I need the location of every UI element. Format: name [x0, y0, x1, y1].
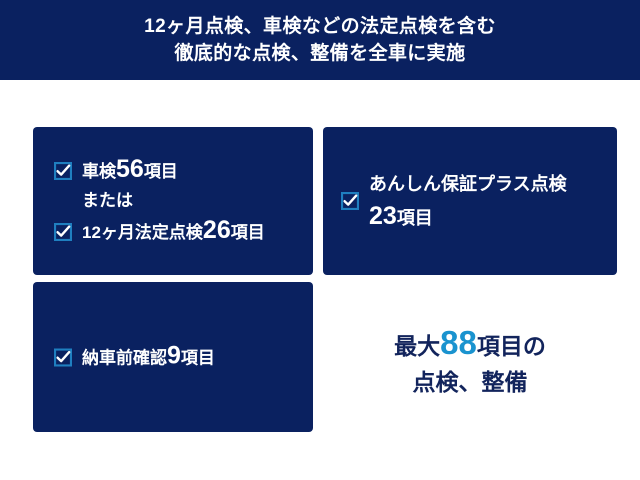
header-title-line-1: 12ヶ月点検、車検などの法定点検を含む: [144, 13, 496, 40]
panel-anshin-warranty-inspection: あんしん保証プラス点検 23項目: [323, 127, 617, 275]
panel-predelivery-check: 納車前確認9項目: [33, 282, 313, 432]
header-title-line-2: 徹底的な点検、整備を全車に実施: [174, 40, 465, 67]
summary-line-2: 点検、整備: [323, 364, 617, 400]
list-item: 車検56項目: [54, 156, 299, 185]
checkbox-checked-icon: [54, 348, 72, 366]
checkbox-checked-icon: [54, 162, 72, 180]
panel-shaken-inspection: 車検56項目 または 12ヶ月法定点検26項目: [33, 127, 313, 275]
list-item-label: または: [82, 188, 133, 214]
summary-total-items: 最大88項目の 点検、整備: [323, 325, 617, 400]
list-item-label-line-1: あんしん保証プラス点検: [369, 171, 567, 197]
list-item-label: 車検56項目: [82, 156, 178, 185]
checkbox-checked-icon: [341, 192, 359, 210]
list-item: 納車前確認9項目: [54, 343, 299, 372]
list-item-label-line-2: 23項目: [369, 203, 567, 231]
list-item-label: 納車前確認9項目: [82, 343, 215, 372]
checkbox-checked-icon: [54, 223, 72, 241]
summary-line-1: 最大88項目の: [323, 325, 617, 364]
summary-total-number: 88: [440, 324, 477, 361]
panel-anshin-content: あんしん保証プラス点検 23項目: [341, 171, 603, 231]
header-banner: 12ヶ月点検、車検などの法定点検を含む 徹底的な点検、整備を全車に実施: [0, 0, 640, 80]
list-item: 12ヶ月法定点検26項目: [54, 217, 299, 246]
list-item: または: [54, 188, 299, 214]
list-item-label-stack: あんしん保証プラス点検 23項目: [369, 171, 567, 231]
list-item: あんしん保証プラス点検 23項目: [341, 171, 603, 231]
panel-predelivery-content: 納車前確認9項目: [54, 340, 299, 375]
panel-shaken-content: 車検56項目 または 12ヶ月法定点検26項目: [54, 153, 299, 249]
list-item-label: 12ヶ月法定点検26項目: [82, 217, 265, 246]
